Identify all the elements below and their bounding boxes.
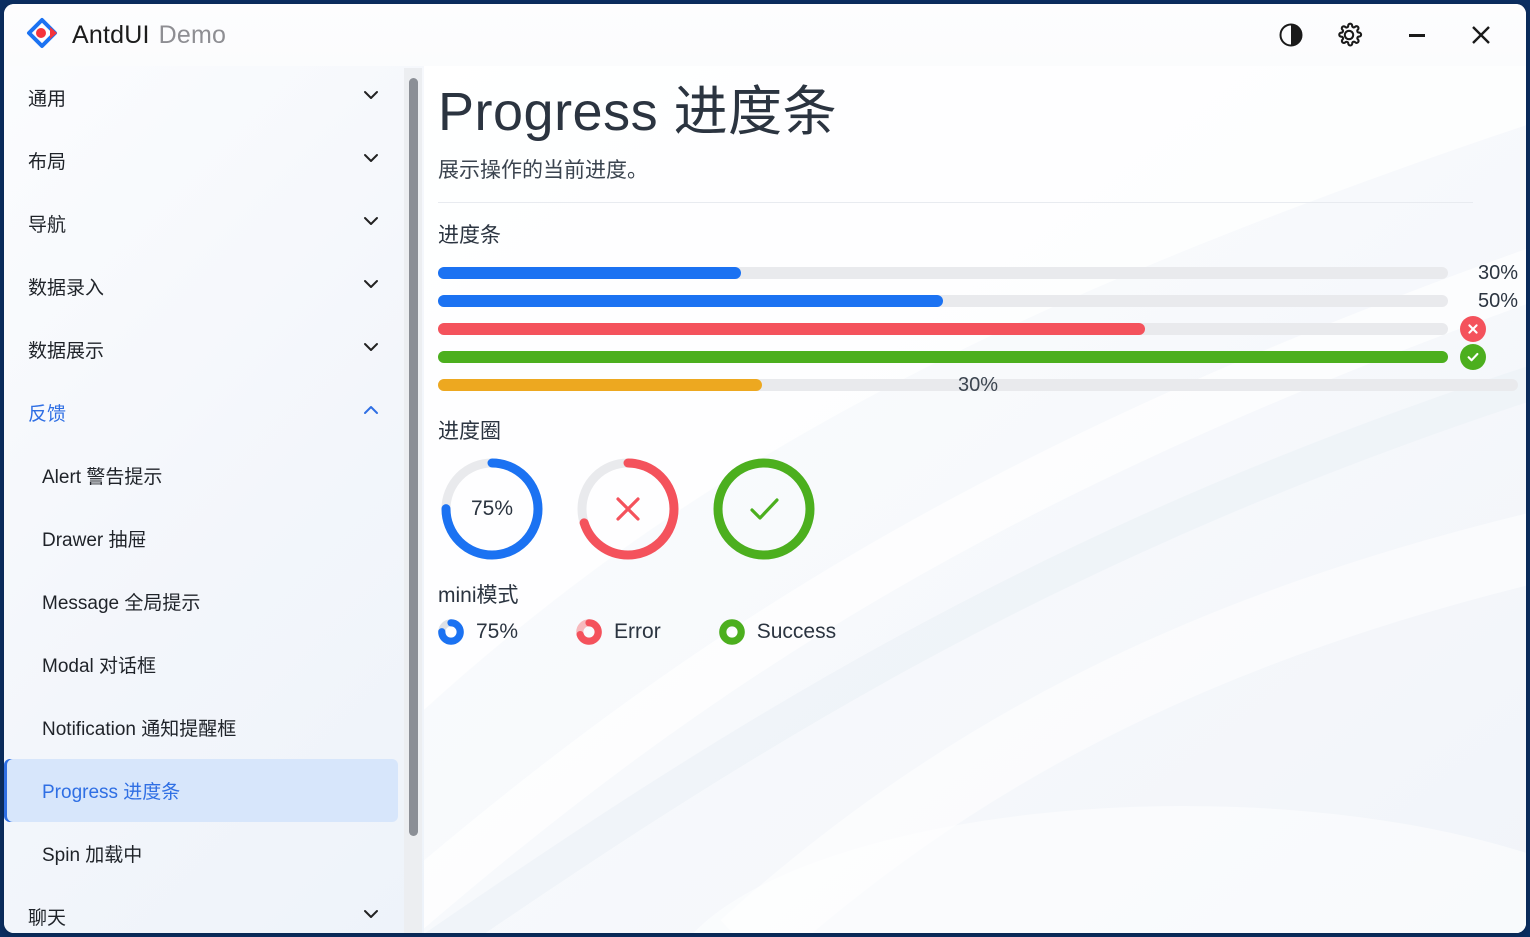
mini-ring-icon: [438, 619, 464, 645]
progress-inline-label: 30%: [438, 370, 1518, 400]
chevron-up-icon: [360, 399, 382, 427]
mini-ring-icon: [576, 619, 602, 645]
page-title: Progress 进度条: [438, 76, 1480, 148]
close-icon: [1466, 20, 1496, 50]
sidebar-group-label: 布局: [28, 147, 66, 174]
progress-track[interactable]: [438, 323, 1448, 335]
app-name: AntdUI: [72, 21, 150, 49]
page-description: 展示操作的当前进度。: [438, 154, 1480, 184]
title-bar: AntdUIDemo: [4, 4, 1526, 66]
chevron-down-icon: [360, 336, 382, 364]
sidebar-item-progress[interactable]: Progress 进度条: [4, 759, 398, 822]
sidebar-item-spin[interactable]: Spin 加载中: [4, 822, 398, 885]
window-controls: [1262, 4, 1526, 66]
progress-bar-row-exception: [438, 315, 1518, 343]
progress-bar-row: 30%: [438, 259, 1518, 287]
contrast-half-circle-icon: [1278, 22, 1304, 48]
header-divider: [438, 202, 1473, 203]
sidebar-group-label: 通用: [28, 84, 66, 111]
progress-status: [1460, 344, 1518, 370]
sidebar-group-data-display[interactable]: 数据展示: [4, 318, 404, 381]
progress-track[interactable]: 30%: [438, 379, 1518, 391]
close-circle-filled-icon: [1460, 316, 1486, 342]
section-title-bars: 进度条: [438, 219, 1480, 249]
progress-fill: [438, 323, 1145, 335]
progress-fill: [438, 295, 943, 307]
progress-fill: [438, 351, 1448, 363]
sidebar-group-layout[interactable]: 布局: [4, 129, 404, 192]
progress-label: 50%: [1460, 290, 1518, 313]
chevron-down-icon: [360, 273, 382, 301]
progress-label: 30%: [1460, 262, 1518, 285]
sidebar-group-chat[interactable]: 聊天: [4, 885, 404, 933]
sidebar-item-modal[interactable]: Modal 对话框: [4, 633, 398, 696]
sidebar-item-label: Spin 加载中: [42, 840, 142, 867]
mini-progress-normal[interactable]: 75%: [438, 619, 518, 645]
app-subtitle: Demo: [159, 21, 227, 49]
chevron-down-icon: [360, 210, 382, 238]
close-icon: [618, 499, 638, 519]
sidebar: 通用 布局 导航: [4, 66, 424, 933]
check-circle-filled-icon: [1460, 344, 1486, 370]
mini-progress-exception[interactable]: Error: [576, 619, 661, 645]
progress-circle-exception[interactable]: [574, 455, 682, 563]
mini-progress-row: 75% Error Success: [438, 619, 1480, 645]
chevron-down-icon: [360, 147, 382, 175]
gear-icon: [1335, 21, 1363, 49]
progress-bar-row: 50%: [438, 287, 1518, 315]
sidebar-item-label: Alert 警告提示: [42, 462, 162, 489]
settings-button[interactable]: [1320, 12, 1378, 58]
sidebar-group-general[interactable]: 通用: [4, 66, 404, 129]
mini-progress-label: Success: [757, 620, 836, 644]
section-title-mini: mini模式: [438, 579, 1480, 609]
sidebar-item-label: Progress 进度条: [42, 777, 180, 804]
chevron-down-icon: [360, 903, 382, 931]
sidebar-group-navigation[interactable]: 导航: [4, 192, 404, 255]
sidebar-item-label: Notification 通知提醒框: [42, 714, 236, 741]
minimize-button[interactable]: [1388, 12, 1446, 58]
app-root: AntdUIDemo: [0, 0, 1530, 937]
mini-ring-icon: [719, 619, 745, 645]
progress-status: [1460, 316, 1518, 342]
mini-progress-label: 75%: [476, 620, 518, 644]
app-title: AntdUIDemo: [72, 21, 226, 50]
application-window: AntdUIDemo: [4, 4, 1526, 933]
antdui-diamond-logo-icon: [22, 15, 62, 55]
sidebar-item-label: Modal 对话框: [42, 651, 156, 678]
progress-track[interactable]: [438, 295, 1448, 307]
progress-track[interactable]: [438, 267, 1448, 279]
sidebar-group-data-entry[interactable]: 数据录入: [4, 255, 404, 318]
sidebar-group-feedback[interactable]: 反馈: [4, 381, 404, 444]
sidebar-group-label: 数据录入: [28, 273, 104, 300]
main-content: Progress 进度条 展示操作的当前进度。 进度条 30% 50%: [424, 66, 1526, 933]
sidebar-item-label: Message 全局提示: [42, 588, 200, 615]
sidebar-item-alert[interactable]: Alert 警告提示: [4, 444, 398, 507]
sidebar-scrollbar-thumb[interactable]: [409, 78, 418, 836]
theme-toggle-button[interactable]: [1262, 12, 1320, 58]
progress-fill: [438, 267, 741, 279]
sidebar-item-drawer[interactable]: Drawer 抽屉: [4, 507, 398, 570]
sidebar-item-notification[interactable]: Notification 通知提醒框: [4, 696, 398, 759]
check-icon: [752, 500, 777, 518]
progress-bar-row-success: [438, 343, 1518, 371]
minimize-icon: [1404, 22, 1430, 48]
mini-progress-label: Error: [614, 620, 661, 644]
close-button[interactable]: [1452, 12, 1510, 58]
sidebar-group-label: 数据展示: [28, 336, 104, 363]
section-title-circles: 进度圈: [438, 415, 1480, 445]
sidebar-group-label: 导航: [28, 210, 66, 237]
sidebar-menu: 通用 布局 导航: [4, 66, 404, 933]
sidebar-item-message[interactable]: Message 全局提示: [4, 570, 398, 633]
progress-circle-normal[interactable]: 75%: [438, 455, 546, 563]
sidebar-group-label: 反馈: [28, 399, 66, 426]
progress-circle-label: 75%: [438, 455, 546, 563]
mini-progress-success[interactable]: Success: [719, 619, 836, 645]
progress-track[interactable]: [438, 351, 1448, 363]
progress-circle-success[interactable]: [710, 455, 818, 563]
sidebar-group-label: 聊天: [28, 903, 66, 930]
content-inner: Progress 进度条 展示操作的当前进度。 进度条 30% 50%: [424, 66, 1526, 645]
sidebar-item-label: Drawer 抽屉: [42, 525, 147, 552]
chevron-down-icon: [360, 84, 382, 112]
progress-circle-row: 75%: [438, 455, 1480, 563]
progress-bar-row-inline-label: 30%: [438, 371, 1518, 399]
